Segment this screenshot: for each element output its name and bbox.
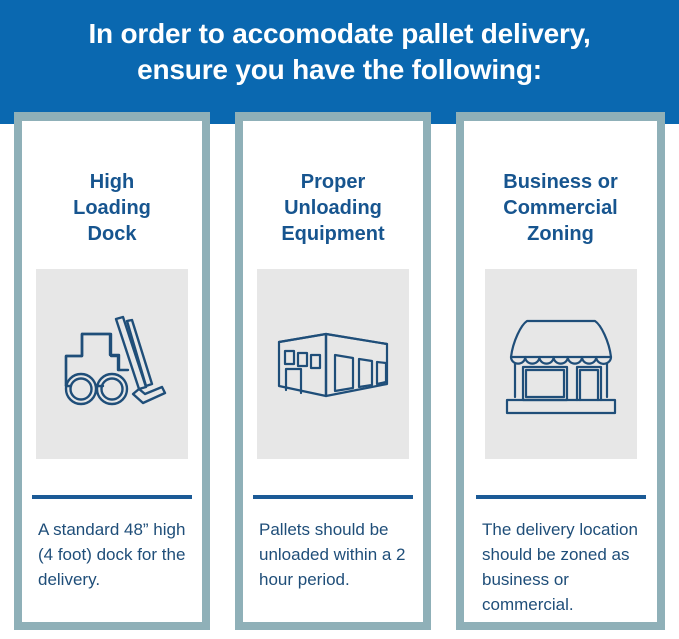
requirement-card-high-loading-dock: High Loading Dock — [14, 112, 210, 630]
card-inner: High Loading Dock — [22, 121, 202, 622]
icon-panel — [257, 269, 409, 459]
card-description: The delivery location should be zoned as… — [464, 517, 657, 617]
header-title: In order to accomodate pallet delivery, … — [0, 16, 679, 88]
requirement-card-business-commercial-zoning: Business or Commercial Zoning — [456, 112, 665, 630]
icon-panel — [36, 269, 188, 459]
icon-panel — [485, 269, 637, 459]
card-divider — [253, 495, 413, 499]
storefront-icon — [501, 311, 621, 417]
card-title: Proper Unloading Equipment — [243, 169, 423, 247]
header-banner: In order to accomodate pallet delivery, … — [0, 0, 679, 124]
forklift-icon — [53, 308, 171, 420]
card-divider — [476, 495, 646, 499]
card-divider — [32, 495, 192, 499]
pallet-delivery-infographic: In order to accomodate pallet delivery, … — [0, 0, 679, 639]
requirement-card-row: High Loading Dock — [0, 112, 679, 639]
warehouse-building-icon — [274, 322, 392, 406]
card-title: High Loading Dock — [22, 169, 202, 247]
card-inner: Proper Unloading Equipment — [243, 121, 423, 622]
card-description: Pallets should be unloaded within a 2 ho… — [243, 517, 423, 592]
card-title: Business or Commercial Zoning — [464, 169, 657, 247]
requirement-card-proper-unloading-equipment: Proper Unloading Equipment — [235, 112, 431, 630]
card-inner: Business or Commercial Zoning — [464, 121, 657, 622]
card-description: A standard 48” high (4 foot) dock for th… — [22, 517, 202, 592]
